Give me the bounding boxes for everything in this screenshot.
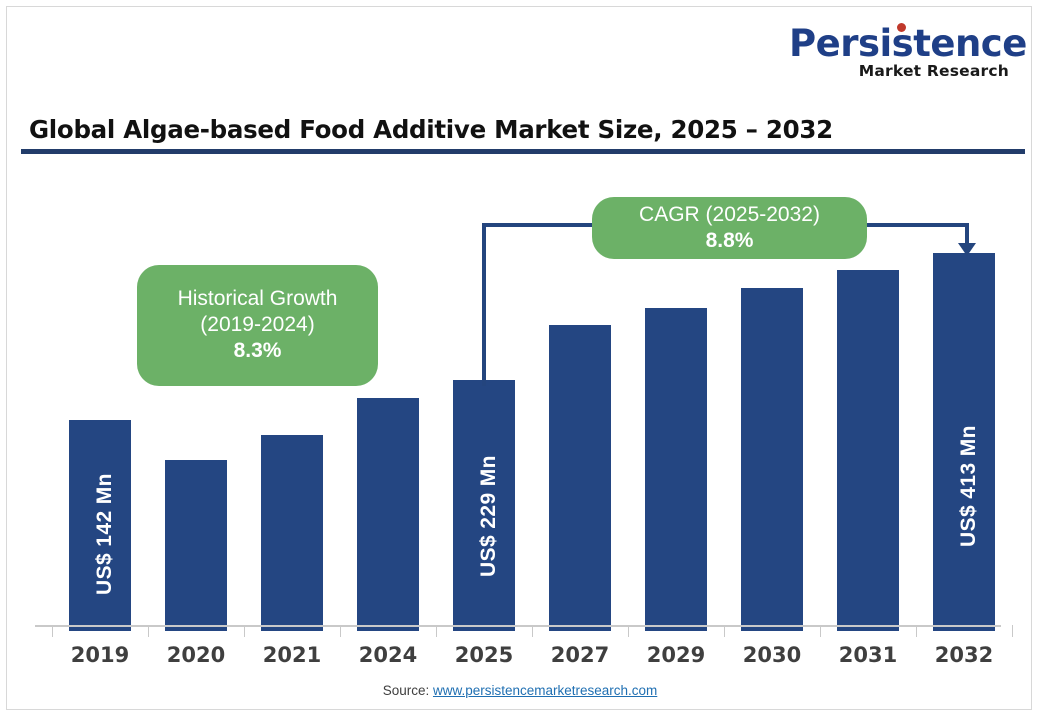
x-axis-label-2030: 2030: [724, 643, 820, 667]
x-axis-tick: [820, 625, 821, 637]
historical-growth-callout: Historical Growth (2019-2024) 8.3%: [137, 265, 378, 386]
x-axis-tick: [436, 625, 437, 637]
historical-growth-value: 8.3%: [234, 337, 282, 364]
x-axis-tick: [52, 625, 53, 637]
x-axis-tick: [148, 625, 149, 637]
x-axis-label-2029: 2029: [628, 643, 724, 667]
cagr-connector-horizontal-left: [482, 223, 602, 227]
cagr-connector-vertical-left: [482, 226, 486, 386]
x-axis-tick: [244, 625, 245, 637]
x-axis-tick: [724, 625, 725, 637]
source-prefix: Source:: [383, 683, 433, 698]
x-axis-tick: [1012, 625, 1013, 637]
source-note: Source: www.persistencemarketresearch.co…: [7, 683, 1032, 698]
x-axis-line: [35, 625, 1001, 627]
bar-2030: [741, 288, 803, 631]
cagr-connector-horizontal-right: [859, 223, 969, 227]
bar-chart-plot: US$ 142 Mn US$ 229 Mn US$ 413 Mn 2019 20…: [7, 7, 1032, 710]
bar-2021: [261, 435, 323, 631]
historical-growth-line2: (2019-2024): [200, 312, 314, 338]
cagr-callout: CAGR (2025-2032) 8.8%: [592, 197, 867, 259]
x-axis-label-2024: 2024: [340, 643, 436, 667]
bar-2032: [933, 253, 995, 631]
chart-card: Persistence Market Research Global Algae…: [6, 6, 1032, 710]
x-axis-label-2025: 2025: [436, 643, 532, 667]
x-axis-label-2020: 2020: [148, 643, 244, 667]
x-axis-label-2021: 2021: [244, 643, 340, 667]
x-axis-tick: [340, 625, 341, 637]
x-axis-tick: [628, 625, 629, 637]
x-axis-label-2032: 2032: [916, 643, 1012, 667]
bar-2025: [453, 380, 515, 631]
source-link[interactable]: www.persistencemarketresearch.com: [433, 683, 657, 698]
x-axis-label-2031: 2031: [820, 643, 916, 667]
bar-2024: [357, 398, 419, 631]
bar-2031: [837, 270, 899, 631]
bar-2020: [165, 460, 227, 631]
cagr-line1: CAGR (2025-2032): [639, 202, 820, 228]
x-axis-label-2019: 2019: [52, 643, 148, 667]
cagr-arrow-icon: [958, 243, 976, 256]
bar-2019: [69, 420, 131, 631]
bar-2027: [549, 325, 611, 631]
x-axis-tick: [916, 625, 917, 637]
cagr-value: 8.8%: [706, 227, 754, 254]
historical-growth-line1: Historical Growth: [178, 286, 338, 312]
bar-2029: [645, 308, 707, 631]
x-axis-tick: [532, 625, 533, 637]
x-axis-label-2027: 2027: [532, 643, 628, 667]
